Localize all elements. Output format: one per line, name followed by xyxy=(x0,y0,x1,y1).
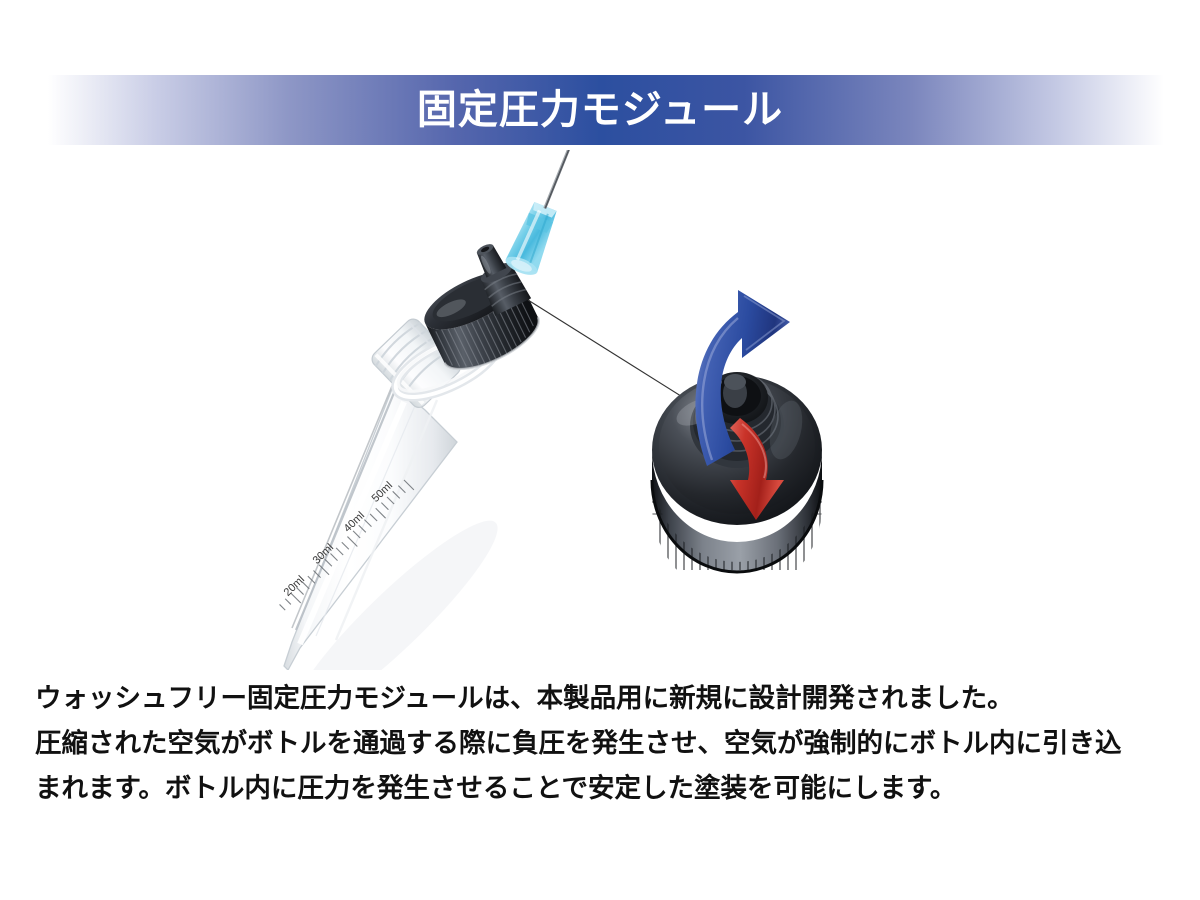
cap-top-closeup xyxy=(650,372,824,572)
luer-lock-needle xyxy=(503,150,596,279)
bottle-shadow xyxy=(275,503,515,670)
product-illustration: 50ml 40ml 30ml 20ml xyxy=(0,150,1200,670)
graduation-label-20ml: 20ml xyxy=(282,574,307,599)
body-copy: ウォッシュフリー固定圧力モジュールは、本製品用に新規に設計開発されました。 圧縮… xyxy=(35,676,1175,811)
header-banner: 固定圧力モジュール xyxy=(0,75,1200,145)
body-line-1: ウォッシュフリー固定圧力モジュールは、本製品用に新規に設計開発されました。 xyxy=(35,676,1175,721)
body-line-2: 圧縮された空気がボトルを通過する際に負圧を発生させ、空気が強制的にボトル内に引き… xyxy=(35,721,1175,766)
page-title: 固定圧力モジュール xyxy=(0,75,1200,145)
callout-leader-line xyxy=(528,300,700,408)
body-line-3: まれます。ボトル内に圧力を発生させることで安定した塗装を可能にします。 xyxy=(35,766,1175,811)
